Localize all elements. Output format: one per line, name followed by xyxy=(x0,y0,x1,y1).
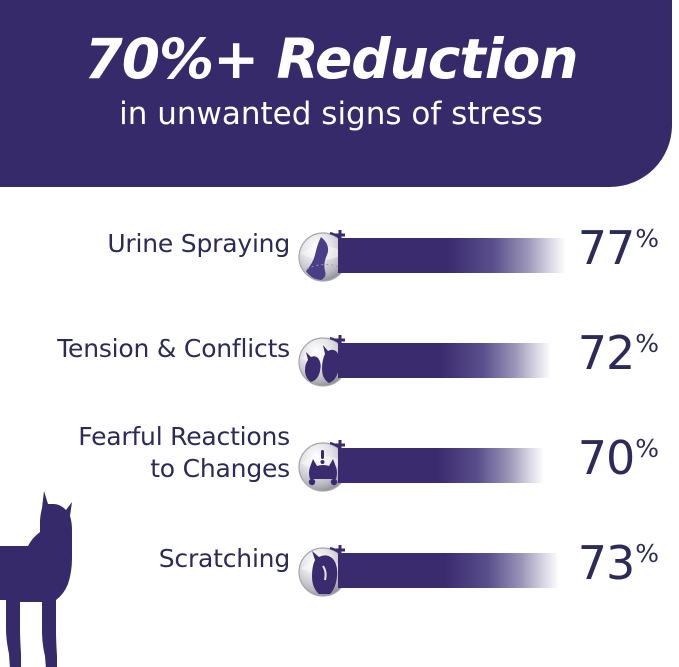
bar-value: 70% xyxy=(578,431,659,485)
bar-value: 73% xyxy=(578,536,659,590)
bar-label-line: to Changes xyxy=(0,453,290,485)
bar-track xyxy=(338,553,559,588)
bar-label-line: Scratching xyxy=(0,543,290,575)
bar-value-number: 70 xyxy=(578,431,635,485)
infographic-root: 70%+ Reduction in unwanted signs of stre… xyxy=(0,0,679,667)
bar-value: 72% xyxy=(578,326,659,380)
bar-label: Scratching xyxy=(0,543,290,575)
table-row: Urine Spraying xyxy=(0,205,679,310)
bar-label: Urine Spraying xyxy=(0,228,290,260)
bar-label-line: Tension & Conflicts xyxy=(0,333,290,365)
bar-value-percent-sign: % xyxy=(635,539,659,568)
bar-label: Fearful Reactions to Changes xyxy=(0,421,290,485)
page-subtitle: in unwanted signs of stress xyxy=(0,97,672,131)
bar-fill xyxy=(338,553,559,588)
bar-track xyxy=(338,343,551,378)
header-banner: 70%+ Reduction in unwanted signs of stre… xyxy=(0,0,672,187)
bar-value: 77% xyxy=(578,221,659,275)
bar-value-percent-sign: % xyxy=(635,434,659,463)
table-row: Scratching xyxy=(0,520,679,625)
bar-value-percent-sign: % xyxy=(635,329,659,358)
bar-track xyxy=(338,238,566,273)
bar-value-number: 72 xyxy=(578,326,635,380)
bar-value-number: 73 xyxy=(578,536,635,590)
page-title: 70%+ Reduction xyxy=(0,32,672,87)
bar-value-number: 77 xyxy=(578,221,635,275)
bar-label: Tension & Conflicts xyxy=(0,333,290,365)
bar-fill xyxy=(338,448,544,483)
bar-fill xyxy=(338,343,551,378)
bar-value-percent-sign: % xyxy=(635,224,659,253)
table-row: Tension & Conflicts xyxy=(0,310,679,415)
bar-fill xyxy=(338,238,566,273)
bars-list: Urine Spraying xyxy=(0,205,679,625)
bar-label-line: Fearful Reactions xyxy=(0,421,290,453)
table-row: Fearful Reactions to Changes xyxy=(0,415,679,520)
bar-track xyxy=(338,448,544,483)
bar-label-line: Urine Spraying xyxy=(0,228,290,260)
